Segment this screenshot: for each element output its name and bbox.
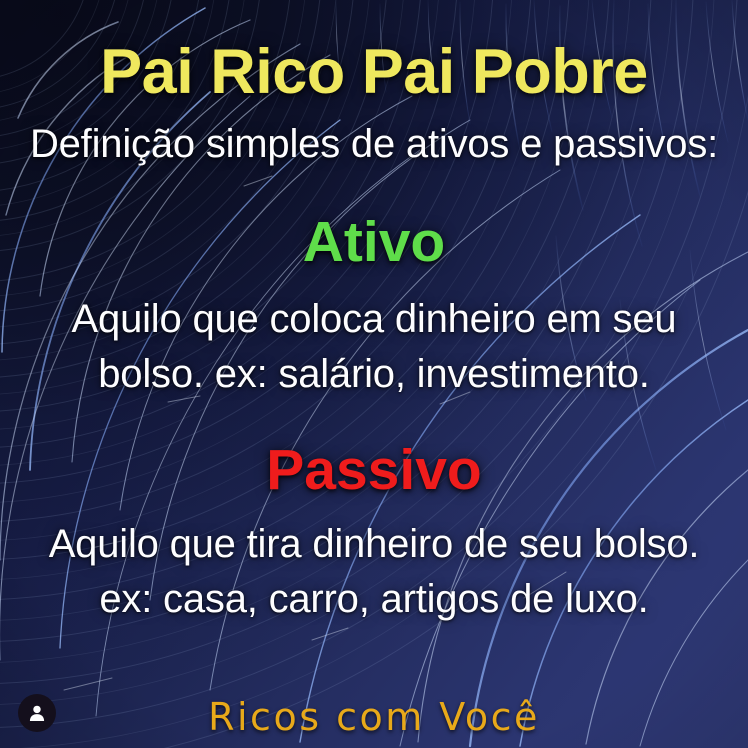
- ativo-definition-line-1: Aquilo que coloca dinheiro em seu: [0, 299, 748, 339]
- section-heading-passivo: Passivo: [0, 442, 748, 499]
- ativo-definition-line-2: bolso. ex: salário, investimento.: [0, 354, 748, 394]
- social-media-graphic: Pai Rico Pai Pobre Definição simples de …: [0, 0, 748, 748]
- passivo-definition-line-2: ex: casa, carro, artigos de luxo.: [0, 579, 748, 619]
- text-content: Pai Rico Pai Pobre Definição simples de …: [0, 0, 748, 748]
- brand-footer-text: Ricos com Você: [0, 698, 748, 736]
- person-avatar-icon[interactable]: [18, 694, 56, 732]
- passivo-definition-line-1: Aquilo que tira dinheiro de seu bolso.: [0, 524, 748, 564]
- section-heading-ativo: Ativo: [0, 214, 748, 271]
- page-subtitle: Definição simples de ativos e passivos:: [0, 124, 748, 164]
- page-title: Pai Rico Pai Pobre: [0, 41, 748, 104]
